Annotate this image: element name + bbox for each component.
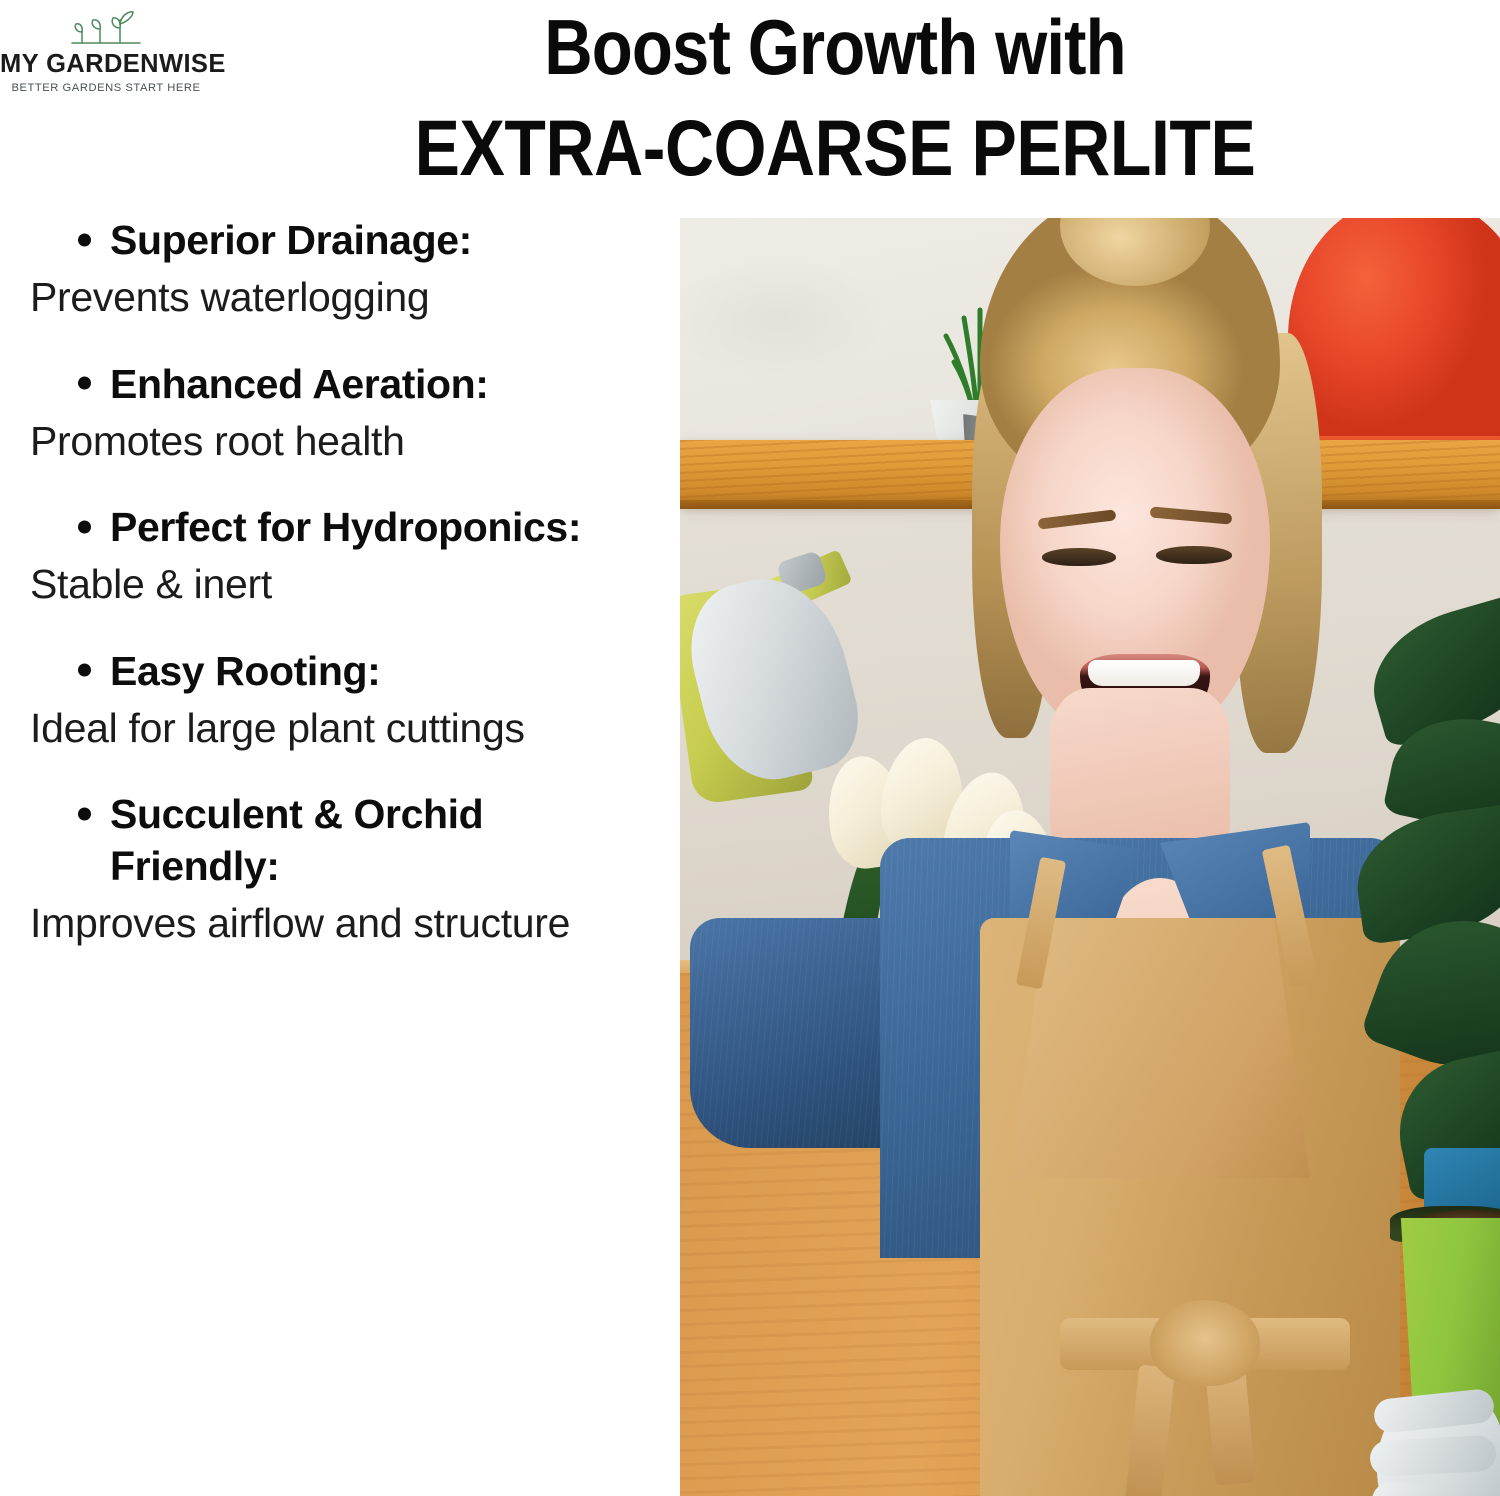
list-item: Succulent & Orchid Friendly: Improves ai… xyxy=(0,788,660,950)
photo-apron-bib xyxy=(1010,918,1310,1178)
bullet-icon xyxy=(78,664,91,677)
benefit-description: Ideal for large plant cuttings xyxy=(0,702,660,754)
benefit-description: Promotes root health xyxy=(0,415,660,467)
headline-line-1: Boost Growth with xyxy=(302,2,1368,86)
brand-wordmark: MY GARDENWISE xyxy=(0,51,212,78)
benefit-title-text: Enhanced Aeration: xyxy=(70,358,660,410)
benefit-title: Succulent & Orchid Friendly: xyxy=(0,788,660,892)
benefit-title: Superior Drainage: xyxy=(0,214,660,266)
benefit-description: Prevents waterlogging xyxy=(0,271,660,323)
list-item: Easy Rooting: Ideal for large plant cutt… xyxy=(0,645,660,755)
headline-line-2: EXTRA-COARSE PERLITE xyxy=(302,86,1368,187)
benefit-title: Easy Rooting: xyxy=(0,645,660,697)
list-item: Superior Drainage: Prevents waterlogging xyxy=(0,214,660,324)
photo-eye-left xyxy=(1042,548,1116,566)
bullet-icon xyxy=(78,233,91,246)
photo-eye-right xyxy=(1156,546,1232,564)
benefits-list: Superior Drainage: Prevents waterlogging… xyxy=(0,214,660,984)
benefit-title-text: Perfect for Hydroponics: xyxy=(70,501,660,553)
brand-tagline: BETTER GARDENS START HERE xyxy=(0,82,212,94)
photo-apron-bow xyxy=(1150,1300,1260,1386)
page-title: Boost Growth with EXTRA-COARSE PERLITE xyxy=(215,2,1455,187)
list-item: Perfect for Hydroponics: Stable & inert xyxy=(0,501,660,611)
photo-glove-finger xyxy=(1369,1435,1497,1478)
benefit-description: Improves airflow and structure xyxy=(0,897,660,949)
bullet-icon xyxy=(78,520,91,533)
benefit-title-text: Succulent & Orchid Friendly: xyxy=(70,788,660,892)
three-sprouts-icon xyxy=(64,8,148,50)
lifestyle-photo xyxy=(680,218,1500,1496)
bullet-icon xyxy=(78,807,91,820)
benefit-description: Stable & inert xyxy=(0,558,660,610)
benefit-title-text: Superior Drainage: xyxy=(70,214,660,266)
brand-logo: MY GARDENWISE BETTER GARDENS START HERE xyxy=(0,8,212,94)
photo-teeth xyxy=(1088,660,1200,686)
benefit-title: Perfect for Hydroponics: xyxy=(0,501,660,553)
benefit-title: Enhanced Aeration: xyxy=(0,358,660,410)
list-item: Enhanced Aeration: Promotes root health xyxy=(0,358,660,468)
bullet-icon xyxy=(78,377,91,390)
photo-orange-terracotta-pot xyxy=(1288,218,1500,468)
benefit-title-text: Easy Rooting: xyxy=(70,645,660,697)
